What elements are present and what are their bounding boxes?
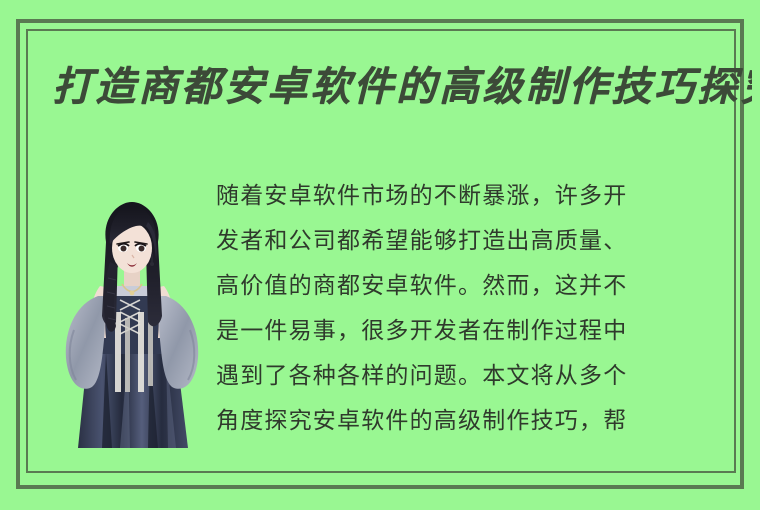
body-line: 发者和公司都希望能够打造出高质量、 bbox=[216, 219, 718, 264]
body-line: 角度探究安卓软件的高级制作技巧，帮 bbox=[216, 399, 718, 444]
poster-canvas: 打造商都安卓软件的高级制作技巧探究 bbox=[0, 0, 760, 510]
body-line: 高价值的商都安卓软件。然而，这并不 bbox=[216, 264, 718, 309]
body-line: 随着安卓软件市场的不断暴涨，许多开 bbox=[216, 174, 718, 219]
anime-woman-illustration bbox=[62, 200, 202, 452]
page-title: 打造商都安卓软件的高级制作技巧探究 bbox=[52, 58, 752, 116]
anime-woman-svg bbox=[62, 200, 202, 452]
body-line: 遇到了各种各样的问题。本文将从多个 bbox=[216, 354, 718, 399]
article-body: 随着安卓软件市场的不断暴涨，许多开 发者和公司都希望能够打造出高质量、 高价值的… bbox=[216, 174, 718, 474]
body-line: 是一件易事，很多开发者在制作过程中 bbox=[216, 309, 718, 354]
